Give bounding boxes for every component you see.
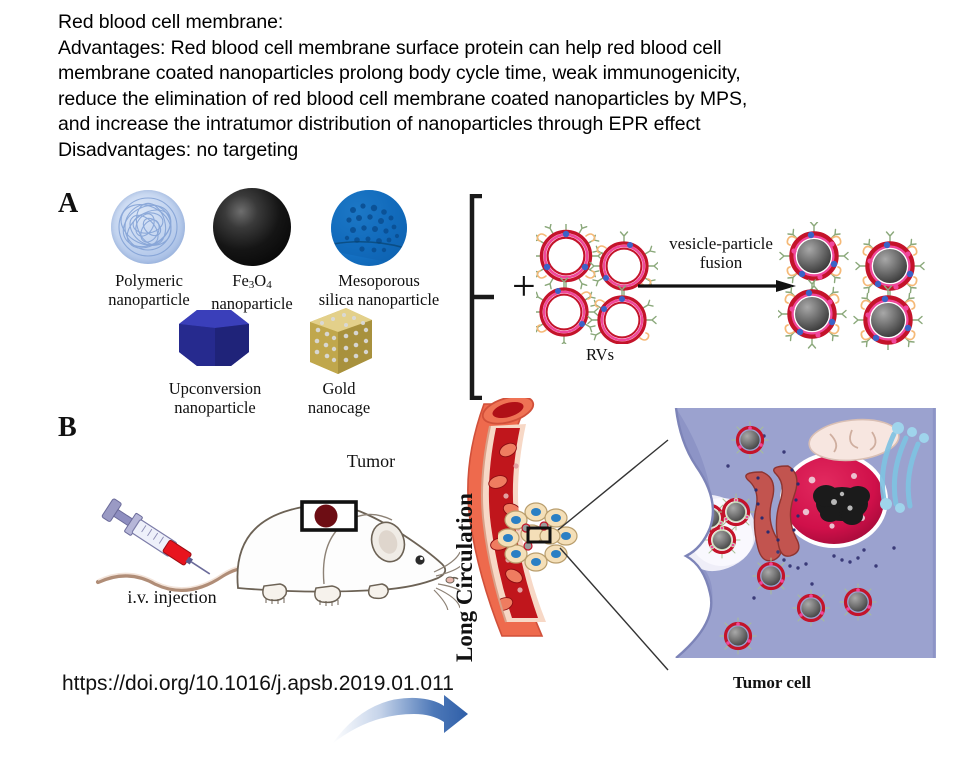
fe3o4-nanoparticle-icon <box>213 188 291 266</box>
plus-sign: + <box>512 266 536 308</box>
upconversion-nanoparticle-caption: Upconversion nanoparticle <box>152 380 278 417</box>
fe3o4-nanoparticle-caption: Fe3O4 nanoparticle <box>196 272 308 313</box>
panel-b-letter: B <box>58 412 77 444</box>
polymeric-caption-line2: nanoparticle <box>108 290 190 309</box>
fe3o4-caption-line1: Fe3O4 <box>232 271 271 290</box>
fusion-label-line1: vesicle-particle <box>669 234 773 253</box>
gold-caption-line2: nanocage <box>308 398 370 417</box>
gold-nanocage-caption: Gold nanocage <box>286 380 392 417</box>
long-circulation-label: Long Circulation <box>452 493 478 662</box>
zoom-callout-lines <box>546 430 676 680</box>
description-line-6: Disadvantages: no targeting <box>58 138 918 164</box>
iv-injection-label: i.v. injection <box>92 588 252 607</box>
mesoporous-caption-line1: Mesoporous <box>338 271 420 290</box>
tumor-label: Tumor <box>326 452 416 471</box>
description-line-5: and increase the intratumor distribution… <box>58 112 918 138</box>
doi-link[interactable]: https://doi.org/10.1016/j.apsb.2019.01.0… <box>62 672 454 696</box>
gold-caption-line1: Gold <box>323 379 356 398</box>
description-line-2: Advantages: Red blood cell membrane surf… <box>58 36 918 62</box>
polymeric-nanoparticle-caption: Polymeric nanoparticle <box>90 272 208 309</box>
tumor-cell-label: Tumor cell <box>733 673 811 693</box>
polymeric-caption-line1: Polymeric <box>115 271 183 290</box>
fusion-arrow-icon <box>638 276 798 296</box>
upconversion-caption-line2: nanoparticle <box>174 398 256 417</box>
grouping-bracket <box>468 194 502 400</box>
upconversion-nanoparticle-icon <box>175 308 253 374</box>
panel-a-letter: A <box>58 188 78 220</box>
rvs-label: RVs <box>560 346 640 365</box>
tumor-cell-illustration <box>666 408 936 658</box>
description-line-4: reduce the elimination of red blood cell… <box>58 87 918 113</box>
description-line-1: Red blood cell membrane: <box>58 10 918 36</box>
fusion-label-line2: fusion <box>700 253 743 272</box>
mouse-illustration <box>220 480 460 610</box>
mesoporous-silica-nanoparticle-caption: Mesoporous silica nanoparticle <box>300 272 458 309</box>
mesoporous-silica-nanoparticle-icon <box>331 190 407 266</box>
coated-nanoparticles-cluster <box>778 222 940 350</box>
description-line-3: membrane coated nanoparticles prolong bo… <box>58 61 918 87</box>
figure-image: A <box>0 180 960 680</box>
upconversion-caption-line1: Upconversion <box>169 379 262 398</box>
polymeric-nanoparticle-icon <box>111 190 185 264</box>
gold-nanocage-icon <box>302 306 376 378</box>
slide-root: Red blood cell membrane: Advantages: Red… <box>0 0 960 720</box>
description-text-block: Red blood cell membrane: Advantages: Red… <box>58 10 918 164</box>
